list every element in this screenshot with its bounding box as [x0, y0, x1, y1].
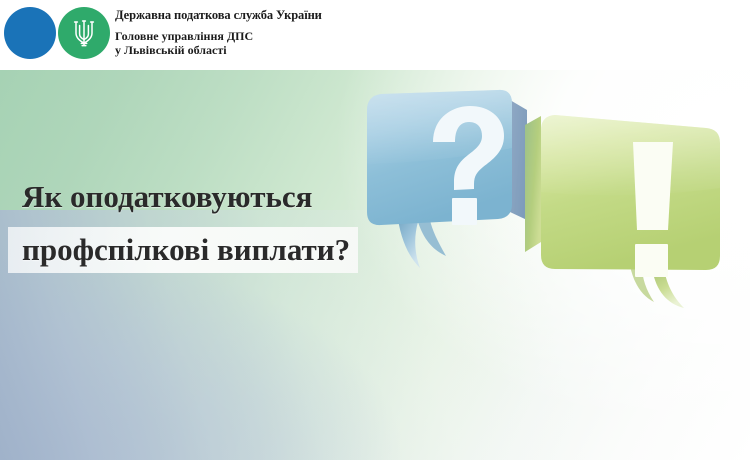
logo-green-circle-icon: [58, 7, 110, 59]
org-name-department: Головне управління ДПС: [115, 30, 515, 44]
org-name-block: Державна податкова служба України Головн…: [115, 8, 515, 57]
headline-line-2: профспілкові виплати?: [8, 227, 358, 273]
banner-area: Як оподатковуються профспілкові виплати?: [0, 70, 750, 460]
banner-page: Державна податкова служба України Головн…: [0, 0, 750, 460]
headline-block: Як оподатковуються профспілкові виплати?: [0, 175, 380, 219]
org-name-primary: Державна податкова служба України: [115, 8, 515, 23]
site-header: Державна податкова служба України Головн…: [0, 0, 750, 70]
ukraine-trident-icon: [72, 17, 96, 49]
org-name-region: у Львівській області: [115, 44, 515, 58]
headline-line-1: Як оподатковуються: [0, 175, 380, 219]
logo-blue-circle-icon: [4, 7, 56, 59]
headline-highlight-box: профспілкові виплати?: [8, 227, 358, 273]
